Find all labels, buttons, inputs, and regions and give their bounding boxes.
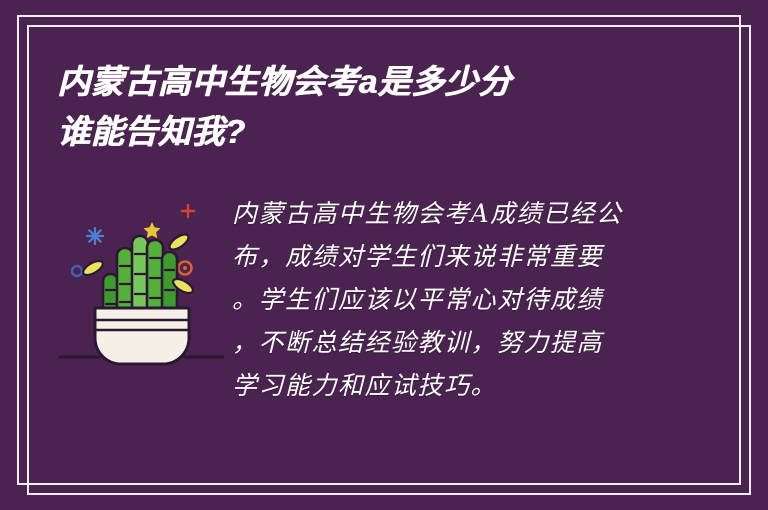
body-line-4: ，不断总结经验教训，努力提高 xyxy=(232,321,718,364)
sparkle-flower-orange xyxy=(179,262,192,275)
content-area: 内蒙古高中生物会考A成绩已经公 布，成绩对学生们来说非常重要 。学生们应该以平常… xyxy=(57,192,718,465)
sparkle-star-yellow xyxy=(144,222,161,238)
body-line-1: 内蒙古高中生物会考A成绩已经公 xyxy=(232,192,718,235)
potted-bamboo-plant-illustration xyxy=(57,196,227,371)
title-line-1: 内蒙古高中生物会考a是多少分 xyxy=(57,57,677,107)
article-body: 内蒙古高中生物会考A成绩已经公 布，成绩对学生们来说非常重要 。学生们应该以平常… xyxy=(232,192,718,407)
sparkle-plus-red xyxy=(182,205,194,217)
sparkle-ring-blue xyxy=(72,266,82,276)
body-line-2: 布，成绩对学生们来说非常重要 xyxy=(232,235,718,278)
title-line-2: 谁能告知我? xyxy=(57,107,677,157)
info-card: 内蒙古高中生物会考a是多少分 谁能告知我? xyxy=(0,0,768,510)
body-line-5: 学习能力和应试技巧。 xyxy=(232,364,718,407)
body-line-3: 。学生们应该以平常心对待成绩 xyxy=(232,278,718,321)
plant-pot xyxy=(95,308,189,364)
sparkle-snowflake-blue xyxy=(87,228,103,244)
page-title: 内蒙古高中生物会考a是多少分 谁能告知我? xyxy=(57,57,677,157)
